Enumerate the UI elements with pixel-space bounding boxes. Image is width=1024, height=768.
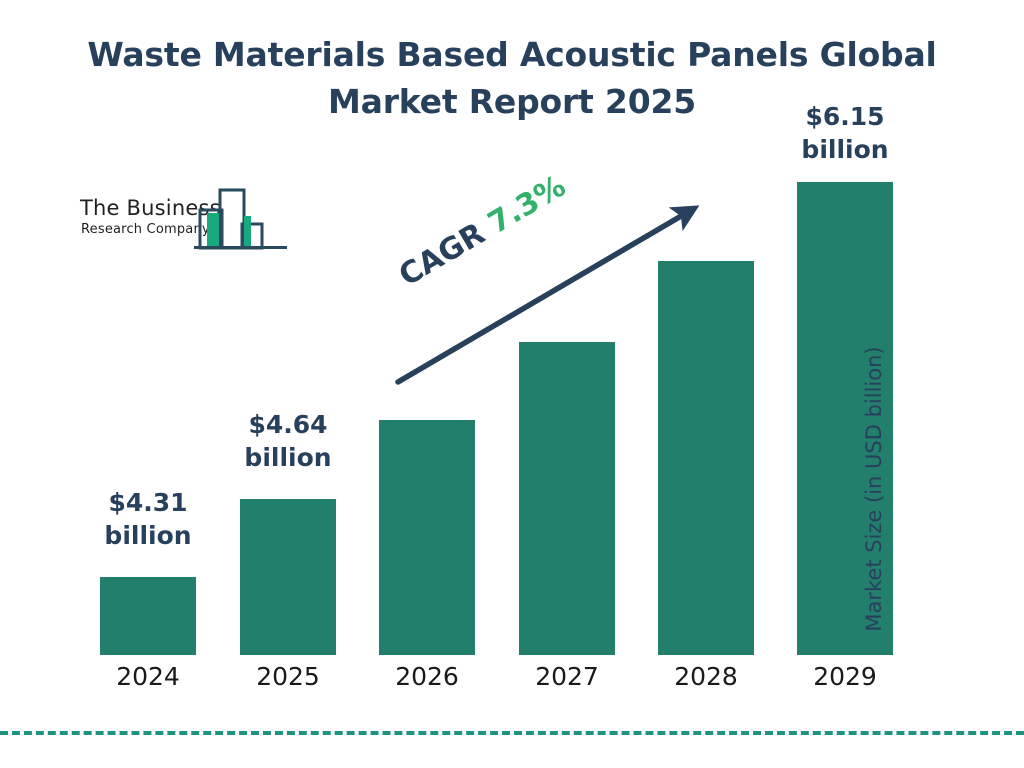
cagr-value: 7.3% — [482, 169, 571, 241]
chart-page: Waste Materials Based Acoustic Panels Gl… — [0, 0, 1024, 768]
bar-2027 — [519, 342, 615, 655]
x-axis-tick-2024: 2024 — [88, 662, 208, 691]
bar-2026 — [379, 420, 475, 655]
bar-value-amount-2024: $4.31 — [88, 486, 208, 519]
bar-value-unit-2029: billion — [785, 133, 905, 166]
x-axis-tick-2027: 2027 — [507, 662, 627, 691]
bar-value-label-2024: $4.31 billion — [88, 486, 208, 553]
x-axis-tick-2029: 2029 — [785, 662, 905, 691]
bar-value-label-2025: $4.64 billion — [228, 408, 348, 475]
bar-2025 — [240, 499, 336, 655]
bar-chart-plot: $4.31 billion $4.64 billion $6.15 billio… — [0, 0, 1024, 768]
bar-value-amount-2025: $4.64 — [228, 408, 348, 441]
x-axis-tick-2026: 2026 — [367, 662, 487, 691]
footer-divider — [0, 731, 1024, 735]
y-axis-title: Market Size (in USD billion) — [862, 324, 886, 654]
bar-2028 — [658, 261, 754, 655]
x-axis-tick-2025: 2025 — [228, 662, 348, 691]
bar-value-amount-2029: $6.15 — [785, 100, 905, 133]
bar-value-unit-2025: billion — [228, 441, 348, 474]
bar-value-label-2029: $6.15 billion — [785, 100, 905, 167]
cagr-annotation: CAGR 7.3% — [393, 169, 572, 294]
bar-2024 — [100, 577, 196, 655]
x-axis-tick-2028: 2028 — [646, 662, 766, 691]
cagr-label: CAGR — [393, 216, 491, 293]
bar-value-unit-2024: billion — [88, 519, 208, 552]
